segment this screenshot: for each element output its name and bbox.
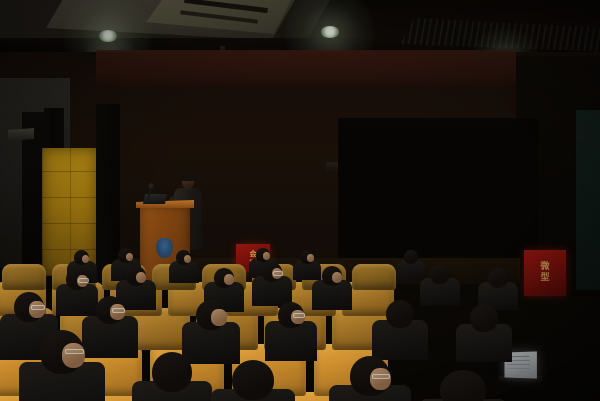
audience-head (488, 268, 508, 288)
audience-face (82, 255, 90, 263)
presenter-hair (181, 174, 195, 181)
auditorium-seat (2, 264, 46, 290)
ceiling-downlight-icon (99, 30, 117, 41)
placard-right-text: 微 型 (524, 262, 566, 284)
audience-glasses-icon (112, 308, 125, 313)
audience-head (440, 370, 486, 401)
audience-glasses-icon (273, 271, 283, 276)
audience-face (370, 368, 391, 390)
upper-red-wall-band (96, 50, 516, 88)
auditorium-seat (352, 264, 396, 290)
audience-glasses-icon (31, 305, 45, 310)
ceiling-downlight-icon (321, 26, 339, 37)
audience-head (470, 304, 498, 332)
audience-head (386, 300, 414, 328)
audience-face (126, 253, 134, 261)
audience-head (404, 250, 418, 264)
placard-right: 微 型 (524, 250, 566, 296)
right-curtain (96, 104, 120, 284)
right-wall-teal-edge (576, 110, 600, 290)
audience-head (152, 352, 192, 392)
audience-glasses-icon (65, 349, 85, 354)
audience-face (211, 309, 227, 326)
audience-glasses-icon (78, 278, 89, 283)
audience-face (62, 343, 85, 368)
auditorium-photo: 上海交通大学 SHANGHAI JIAO TONG UNIVERSITY 学院党… (0, 0, 600, 401)
projection-screen-frame: 上海交通大学 SHANGHAI JIAO TONG UNIVERSITY 学院党… (338, 118, 538, 266)
audience-head (232, 360, 274, 400)
audience-glasses-icon (372, 374, 390, 379)
audience-glasses-icon (293, 313, 305, 318)
audience-face (184, 255, 192, 263)
audience-head (430, 264, 450, 284)
lectern-emblem-icon (156, 238, 173, 258)
wall-speaker-icon (8, 128, 34, 141)
